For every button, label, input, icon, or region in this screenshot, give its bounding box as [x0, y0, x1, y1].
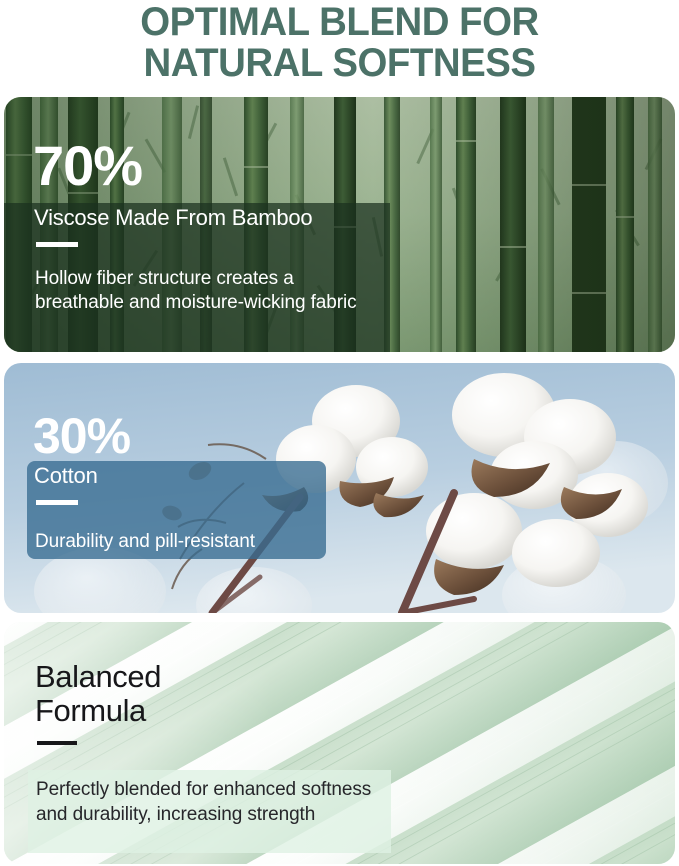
page-title: OPTIMAL BLEND FOR NATURAL SOFTNESS [0, 2, 679, 84]
panel-cotton-percent: 30% [33, 411, 130, 461]
panel-fabric-divider [37, 741, 77, 745]
panel-bamboo-divider [36, 242, 78, 247]
panel-fabric-heading: Balanced Formula [35, 660, 161, 728]
panel-bamboo-description: Hollow fiber structure creates a breatha… [35, 267, 385, 315]
page-title-line-2: NATURAL SOFTNESS [14, 43, 666, 84]
panel-bamboo: 70% Viscose Made From Bamboo Hollow fibe… [4, 97, 675, 352]
panel-cotton-divider [36, 500, 78, 505]
panel-fabric-heading-line-1: Balanced [35, 660, 161, 694]
panel-bamboo-material: Viscose Made From Bamboo [34, 205, 312, 231]
panel-cotton-material: Cotton [34, 463, 98, 489]
panel-fabric-heading-line-2: Formula [35, 694, 161, 728]
infographic-page: OPTIMAL BLEND FOR NATURAL SOFTNESS [0, 0, 679, 866]
panel-bamboo-percent: 70% [33, 138, 142, 194]
panel-fabric-description: Perfectly blended for enhanced softness … [36, 777, 386, 827]
panel-fabric: Balanced Formula Perfectly blended for e… [4, 622, 675, 864]
panel-cotton-description: Durability and pill-resistant [35, 530, 335, 554]
page-title-line-1: OPTIMAL BLEND FOR [14, 2, 666, 43]
panel-cotton: 30% Cotton Durability and pill-resistant [4, 363, 675, 613]
